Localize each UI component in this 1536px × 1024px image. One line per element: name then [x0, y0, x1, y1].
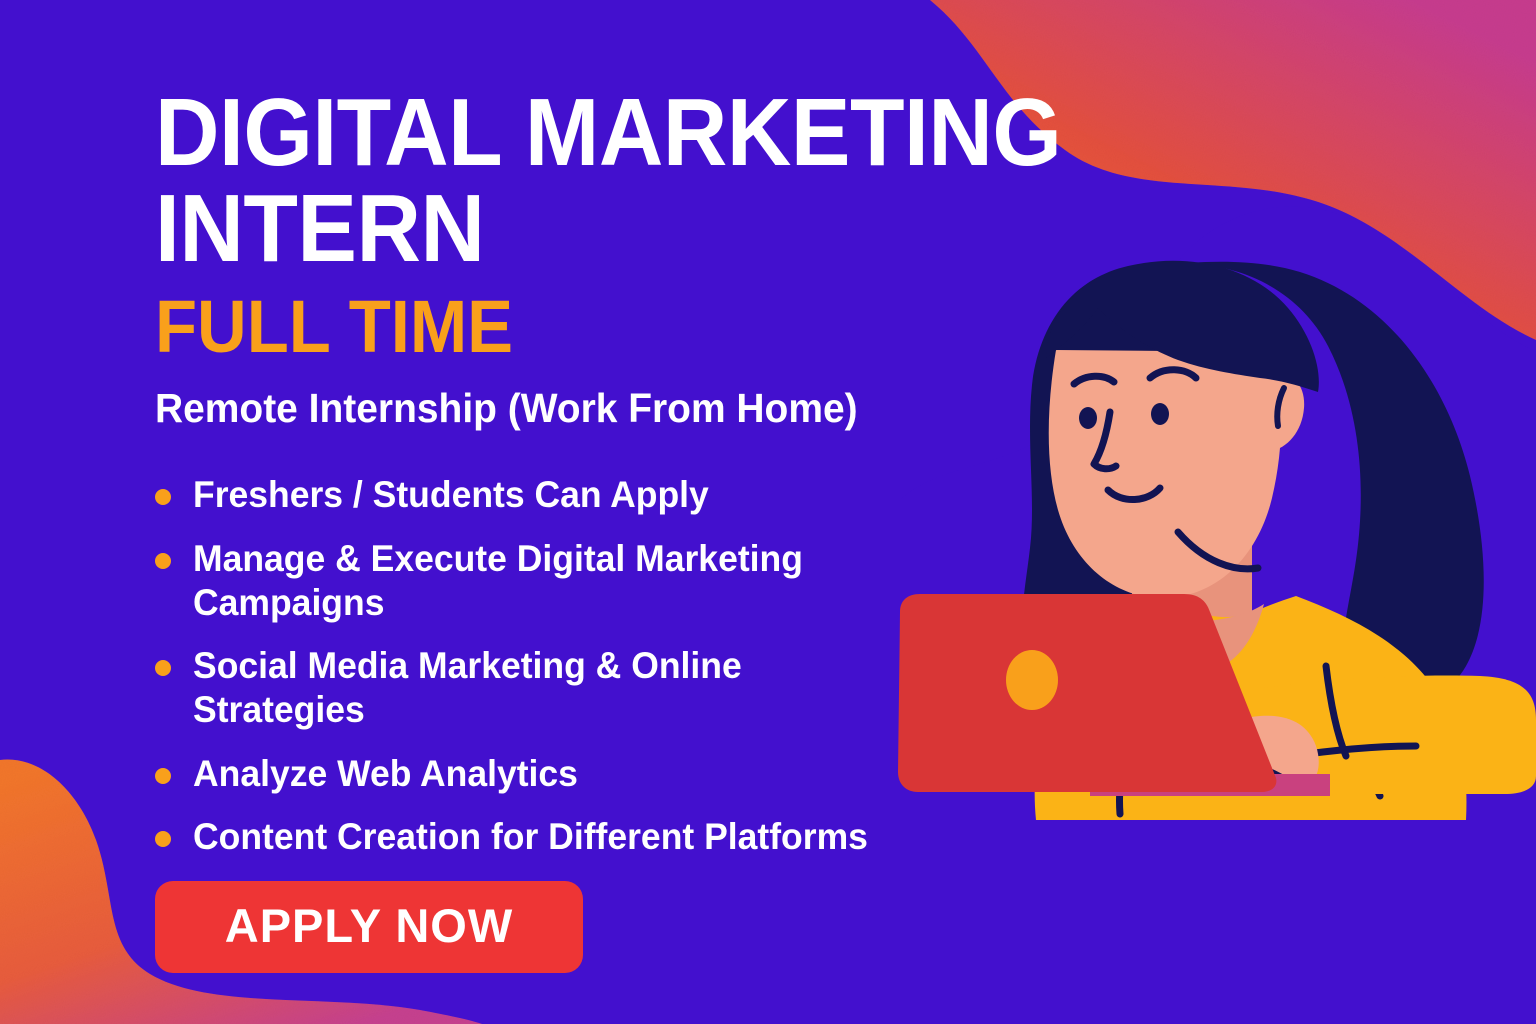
bullet-dot-icon [155, 489, 171, 505]
list-item: Analyze Web Analytics [155, 752, 1245, 796]
bullet-dot-icon [155, 553, 171, 569]
apply-now-button[interactable]: APPLY NOW [155, 881, 583, 973]
banner-text-content: DIGITAL MARKETING INTERN FULL TIME Remot… [155, 86, 1245, 879]
bullet-dot-icon [155, 831, 171, 847]
list-item-label: Freshers / Students Can Apply [193, 473, 709, 517]
page-title-line-1: DIGITAL MARKETING [155, 86, 1169, 180]
bullet-dot-icon [155, 660, 171, 676]
job-posting-banner: DIGITAL MARKETING INTERN FULL TIME Remot… [0, 0, 1536, 1024]
list-item-label: Manage & Execute Digital Marketing Campa… [193, 537, 923, 624]
list-item-label: Content Creation for Different Platforms [193, 815, 868, 859]
page-title-line-2: INTERN [155, 182, 1169, 276]
employment-type-label: FULL TIME [155, 290, 1169, 364]
list-item: Manage & Execute Digital Marketing Campa… [155, 537, 1245, 624]
list-item-label: Analyze Web Analytics [193, 752, 578, 796]
list-item-label: Social Media Marketing & Online Strategi… [193, 644, 923, 731]
list-item: Freshers / Students Can Apply [155, 473, 1245, 517]
responsibilities-list: Freshers / Students Can Apply Manage & E… [155, 473, 1245, 859]
bullet-dot-icon [155, 768, 171, 784]
list-item: Social Media Marketing & Online Strategi… [155, 644, 1245, 731]
list-item: Content Creation for Different Platforms [155, 815, 1245, 859]
subtitle: Remote Internship (Work From Home) [155, 386, 1191, 431]
